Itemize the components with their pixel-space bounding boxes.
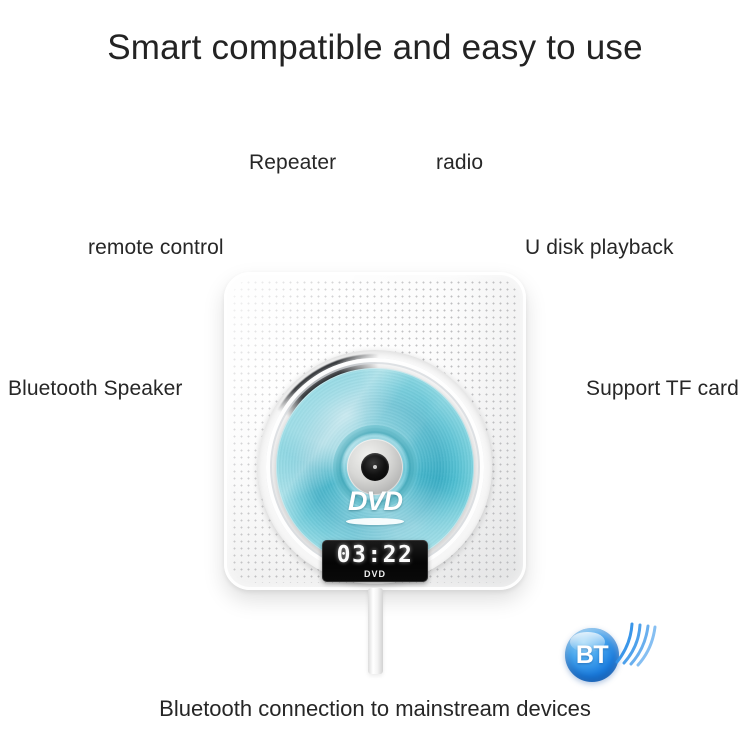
page-title: Smart compatible and easy to use [0, 28, 750, 68]
bluetooth-badge-label: BT [576, 643, 608, 668]
wireless-signal-icon [605, 612, 663, 668]
bluetooth-badge: BT [565, 612, 665, 684]
product-image-cd-player: DVD 03:22 DVD [224, 272, 526, 590]
lcd-time-readout: 03:22 [337, 544, 414, 567]
lcd-mode-label: DVD [364, 570, 386, 579]
lcd-display-panel: 03:22 DVD [322, 540, 428, 582]
power-cable [368, 588, 383, 674]
feature-label-radio: radio [436, 151, 483, 175]
feature-label-remote-control: remote control [88, 236, 224, 260]
footer-caption: Bluetooth connection to mainstream devic… [0, 696, 750, 722]
feature-label-support-tf-card: Support TF card [586, 377, 739, 401]
feature-label-u-disk-playback: U disk playback [525, 236, 674, 260]
feature-label-bluetooth-speaker: Bluetooth Speaker [8, 377, 183, 401]
feature-label-repeater: Repeater [249, 151, 336, 175]
